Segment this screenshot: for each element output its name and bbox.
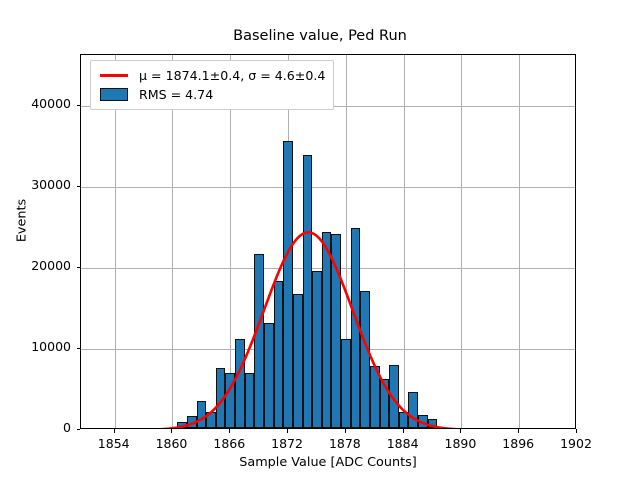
legend-patch-swatch xyxy=(98,88,130,101)
y-tick-label-0: 0 xyxy=(0,420,71,435)
x-tick-label-1866: 1866 xyxy=(199,436,259,451)
x-tick-mark-1872 xyxy=(287,429,288,433)
x-tick-label-1872: 1872 xyxy=(257,436,317,451)
fit-path xyxy=(81,232,575,428)
gaussian-fit-curve xyxy=(81,55,575,428)
y-tick-label-40000: 40000 xyxy=(0,96,71,111)
x-tick-label-1890: 1890 xyxy=(430,436,490,451)
x-tick-mark-1878 xyxy=(345,429,346,433)
x-tick-label-1860: 1860 xyxy=(141,436,201,451)
chart-figure: Baseline value, Ped Run 1854186018661872… xyxy=(0,0,640,480)
y-tick-label-30000: 30000 xyxy=(0,177,71,192)
y-tick-mark-30000 xyxy=(77,186,81,187)
x-tick-label-1896: 1896 xyxy=(488,436,548,451)
y-tick-label-20000: 20000 xyxy=(0,258,71,273)
legend-label-fit: μ = 1874.1±0.4, σ = 4.6±0.4 xyxy=(139,68,325,83)
legend-entry-rms: RMS = 4.74 xyxy=(98,85,325,104)
y-axis-label: Events xyxy=(15,161,30,281)
x-tick-mark-1890 xyxy=(460,429,461,433)
x-axis-label: Sample Value [ADC Counts] xyxy=(80,455,576,470)
x-tick-label-1884: 1884 xyxy=(373,436,433,451)
legend-label-rms: RMS = 4.74 xyxy=(139,87,213,102)
x-tick-label-1854: 1854 xyxy=(84,436,144,451)
y-tick-mark-10000 xyxy=(77,348,81,349)
y-tick-mark-0 xyxy=(77,429,81,430)
x-tick-label-1878: 1878 xyxy=(315,436,375,451)
y-tick-mark-20000 xyxy=(77,267,81,268)
legend-entry-fit: μ = 1874.1±0.4, σ = 4.6±0.4 xyxy=(98,66,325,85)
y-tick-label-10000: 10000 xyxy=(0,339,71,354)
x-tick-mark-1854 xyxy=(114,429,115,433)
chart-title: Baseline value, Ped Run xyxy=(0,28,640,44)
x-tick-mark-1860 xyxy=(171,429,172,433)
plot-area xyxy=(80,54,576,429)
legend-line-swatch xyxy=(98,74,130,77)
x-tick-mark-1884 xyxy=(403,429,404,433)
y-tick-mark-40000 xyxy=(77,105,81,106)
chart-legend: μ = 1874.1±0.4, σ = 4.6±0.4 RMS = 4.74 xyxy=(90,60,334,110)
plot-inner xyxy=(81,55,575,428)
x-tick-mark-1902 xyxy=(576,429,577,433)
x-tick-label-1902: 1902 xyxy=(546,436,606,451)
x-tick-mark-1866 xyxy=(229,429,230,433)
x-tick-mark-1896 xyxy=(518,429,519,433)
